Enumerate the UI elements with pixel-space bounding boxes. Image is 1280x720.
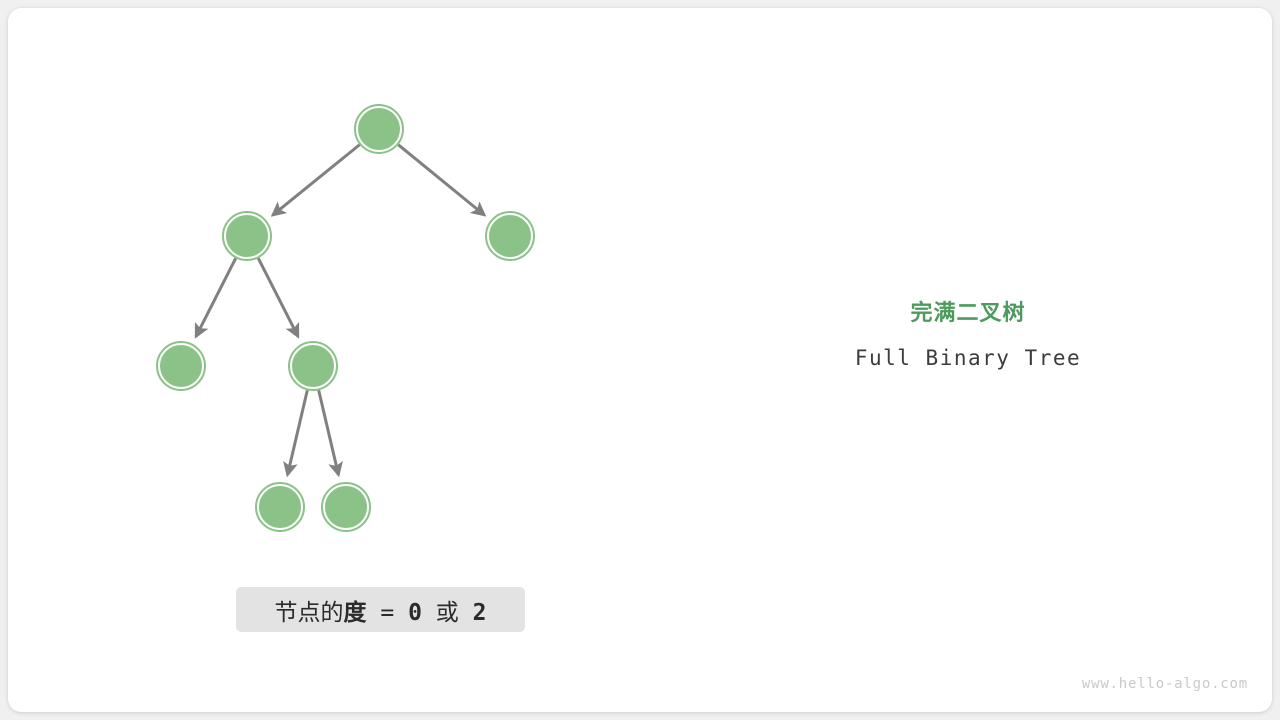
tree-node [257, 484, 303, 530]
degree-prefix: 节点的 [275, 600, 344, 626]
tree-node [224, 213, 270, 259]
degree-label-text: 节点的度 = 0 或 2 [275, 593, 487, 627]
legend-title: 完满二叉树 [768, 302, 1168, 324]
watermark-text: www.hello-algo.com [1082, 676, 1248, 692]
legend-block: 完满二叉树 Full Binary Tree [768, 302, 1168, 370]
legend-subtitle: Full Binary Tree [768, 346, 1168, 370]
degree-conjunction: 或 [422, 600, 473, 626]
tree-node [290, 343, 336, 389]
degree-value-a: 0 [408, 600, 422, 626]
degree-label-box: 节点的度 = 0 或 2 [236, 587, 525, 632]
degree-value-b: 2 [473, 600, 487, 626]
tree-node [487, 213, 533, 259]
tree-node [323, 484, 369, 530]
diagram-canvas: 完满二叉树 Full Binary Tree 节点的度 = 0 或 2 www.… [0, 0, 1280, 720]
tree-node [356, 106, 402, 152]
degree-bold-term: 度 [344, 600, 367, 626]
tree-node [158, 343, 204, 389]
degree-equals: = [367, 600, 409, 626]
